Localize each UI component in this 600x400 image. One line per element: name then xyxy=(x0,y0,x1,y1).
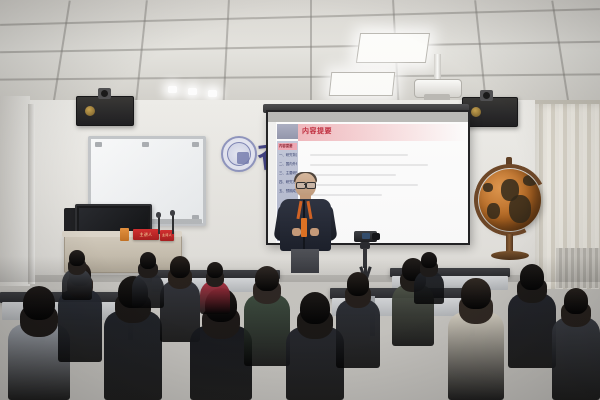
presenter-hand xyxy=(292,228,301,236)
slide-outline-item: 二、国内外研究现状 xyxy=(278,161,297,168)
audience-torso xyxy=(552,317,600,400)
slide-header-title: 内容提要 xyxy=(302,126,332,136)
slide-header-bar: 内容提要 xyxy=(298,124,466,141)
nameplate: 主讲人 xyxy=(133,229,159,240)
audience-torso xyxy=(244,294,290,366)
world-globe xyxy=(470,160,550,268)
audience-person xyxy=(552,288,600,400)
audience-head xyxy=(140,252,157,269)
audience-person xyxy=(132,252,164,308)
audience-person xyxy=(336,272,380,368)
slide-outline-item: 内容提要 xyxy=(278,143,297,150)
audience-head xyxy=(255,266,279,291)
audience-head xyxy=(564,288,589,314)
audience-head xyxy=(461,278,490,309)
microphone-head xyxy=(156,212,161,218)
microphone xyxy=(172,214,174,234)
audience-torso xyxy=(448,312,504,400)
microphone-head xyxy=(170,210,175,216)
camera-lens xyxy=(372,233,380,240)
audience-torso xyxy=(104,311,162,400)
spot-light xyxy=(188,88,197,95)
audience-person xyxy=(62,250,92,300)
audience-person xyxy=(508,264,556,368)
audience-person xyxy=(414,252,444,304)
spot-light xyxy=(168,86,177,93)
university-seal-icon xyxy=(221,136,257,172)
spot-light xyxy=(208,90,217,97)
projector-mount-pole xyxy=(434,54,441,81)
ceiling-panel-light xyxy=(329,72,396,96)
wall-camera-right xyxy=(480,90,493,101)
audience-person xyxy=(200,262,230,314)
audience-head xyxy=(69,250,85,266)
audience-head xyxy=(207,262,223,278)
audience-person xyxy=(244,266,290,366)
slide-outline-item: 一、研究背景与意义 xyxy=(278,152,297,159)
audience-head xyxy=(170,256,191,278)
lecture-hall-photo: 奋 内容提要 内容提要 一、研究背景与意义 二、国内外研究现状 三、主要研究内容… xyxy=(0,0,600,400)
microphone xyxy=(158,216,160,234)
audience-head xyxy=(421,252,437,268)
water-bottle xyxy=(120,228,129,241)
globe-meridian-ring xyxy=(465,155,556,246)
audience-head xyxy=(300,292,330,324)
glasses-icon xyxy=(306,182,316,189)
presenter-hand xyxy=(310,228,319,236)
audience-torso xyxy=(336,299,380,368)
badge xyxy=(301,218,307,237)
audience-head xyxy=(23,286,55,320)
audience-person xyxy=(448,278,504,400)
ceiling-panel-light xyxy=(356,33,430,63)
wall-speaker-left xyxy=(76,96,134,126)
slide-body-line xyxy=(310,164,428,166)
slide-body-line xyxy=(310,154,408,156)
audience-head xyxy=(347,272,370,296)
wall-speaker-right xyxy=(462,97,518,127)
audience-torso xyxy=(508,293,556,368)
audience-head xyxy=(520,264,545,290)
wall-camera-left xyxy=(98,88,111,99)
slide-logo xyxy=(277,124,299,139)
